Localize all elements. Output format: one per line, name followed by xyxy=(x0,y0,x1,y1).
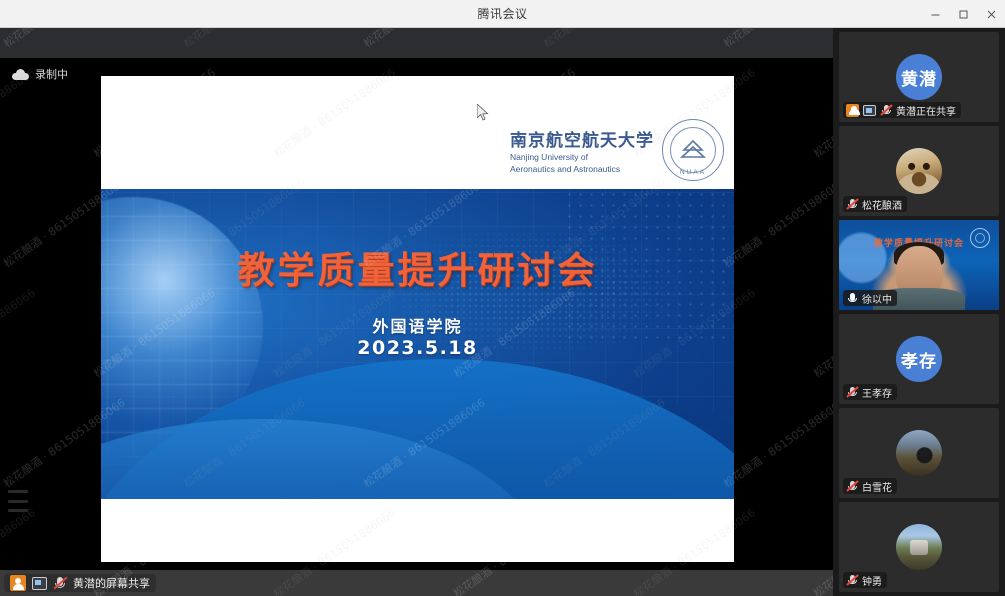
participant-rail[interactable]: 黄潜黄潜正在共享松花酿酒教学质量提升研讨会徐以中孝存王孝存白雪花钟勇 xyxy=(833,28,1005,596)
participant-name-chip: 松花酿酒 xyxy=(843,196,907,212)
watermark-text: 松花酿酒 · 8615051886066 xyxy=(720,175,833,272)
mic-muted-icon xyxy=(880,104,892,117)
seal-bottom-text: NUAA xyxy=(663,169,723,176)
tencent-meeting-window: 腾讯会议 录制中 南京航空 xyxy=(0,0,1005,596)
close-button[interactable] xyxy=(977,0,1005,28)
participant-name: 松花酿酒 xyxy=(862,197,902,212)
shared-screen-stage[interactable]: 录制中 南京航空航天大学 Nanjing University of Aeron… xyxy=(0,28,833,596)
participant-tile[interactable]: 白雪花 xyxy=(839,408,999,498)
slide-footer xyxy=(101,499,734,562)
mic-muted-icon xyxy=(846,198,858,211)
watermark-text: 松花酿酒 · 8615051886066 xyxy=(0,285,38,382)
participant-name: 黄潜正在共享 xyxy=(896,103,956,118)
mouse-cursor-icon xyxy=(477,104,489,122)
screen-share-label: 黄潜的屏幕共享 xyxy=(73,575,150,591)
university-branding: 南京航空航天大学 Nanjing University of Aeronauti… xyxy=(510,119,724,181)
shared-slide: 南京航空航天大学 Nanjing University of Aeronauti… xyxy=(101,76,734,562)
mic-on-icon xyxy=(846,292,858,305)
participant-tile[interactable]: 教学质量提升研讨会徐以中 xyxy=(839,220,999,310)
minimize-button[interactable] xyxy=(921,0,949,28)
maximize-icon xyxy=(958,9,969,20)
participant-tile[interactable]: 松花酿酒 xyxy=(839,126,999,216)
participant-name-chip: 王孝存 xyxy=(843,384,897,400)
university-name-en-line2: Aeronautics and Astronautics xyxy=(510,164,654,175)
slide-date: 2023.5.18 xyxy=(101,337,734,359)
screen-share-chip: 黄潜的屏幕共享 xyxy=(4,574,156,592)
avatar: 黄潜 xyxy=(896,54,942,100)
avatar-photo-image xyxy=(896,524,942,570)
stage-top-bar xyxy=(0,28,833,58)
mic-muted-icon xyxy=(846,386,858,399)
list-menu-icon[interactable] xyxy=(8,490,28,512)
university-name-en-line1: Nanjing University of xyxy=(510,152,654,163)
minimize-icon xyxy=(930,9,941,20)
participant-name: 白雪花 xyxy=(862,479,892,494)
avatar xyxy=(896,430,942,476)
watermark-text: 松花酿酒 · 8615051886066 xyxy=(720,395,833,492)
avatar xyxy=(896,524,942,570)
cloud-recording-icon xyxy=(12,69,29,80)
recording-label: 录制中 xyxy=(35,66,68,82)
participant-tile[interactable]: 孝存王孝存 xyxy=(839,314,999,404)
slide-header: 南京航空航天大学 Nanjing University of Aeronauti… xyxy=(101,76,734,189)
participant-name: 王孝存 xyxy=(862,385,892,400)
avatar xyxy=(896,148,942,194)
host-icon xyxy=(846,104,859,117)
window-controls xyxy=(921,0,1005,28)
participant-name-chip: 徐以中 xyxy=(843,290,897,306)
screen-share-icon xyxy=(863,105,876,116)
participant-tile[interactable]: 钟勇 xyxy=(839,502,999,592)
university-name-cn: 南京航空航天大学 xyxy=(510,126,654,151)
participant-name: 钟勇 xyxy=(862,573,882,588)
slide-body: 教学质量提升研讨会 外国语学院 2023.5.18 xyxy=(101,189,734,499)
nuaa-seal-icon: NUAA xyxy=(662,119,724,181)
video-seal-icon xyxy=(970,228,990,248)
close-icon xyxy=(986,9,997,20)
slide-main-title: 教学质量提升研讨会 xyxy=(101,240,734,294)
mic-muted-icon xyxy=(846,480,858,493)
screen-share-icon xyxy=(32,577,47,590)
watermark-text: 松花酿酒 · 8615051886066 xyxy=(810,285,833,382)
watermark-text: 松花酿酒 · 8615051886066 xyxy=(810,65,833,162)
title-bar: 腾讯会议 xyxy=(0,0,1005,28)
app-title: 腾讯会议 xyxy=(477,5,527,22)
participant-name-chip: 白雪花 xyxy=(843,478,897,494)
slide-subtitle: 外国语学院 xyxy=(101,313,734,337)
participant-tile[interactable]: 黄潜黄潜正在共享 xyxy=(839,32,999,122)
avatar-photo-image xyxy=(896,430,942,476)
recording-indicator: 录制中 xyxy=(12,66,68,82)
host-icon xyxy=(10,575,26,591)
participant-name-chip: 钟勇 xyxy=(843,572,887,588)
mic-muted-icon xyxy=(53,576,67,591)
participant-name-chip: 黄潜正在共享 xyxy=(843,102,961,118)
participant-name: 徐以中 xyxy=(862,291,892,306)
avatar-photo-image xyxy=(896,148,942,194)
mic-muted-icon xyxy=(846,574,858,587)
seal-inner-glyph xyxy=(678,138,708,164)
avatar: 孝存 xyxy=(896,336,942,382)
maximize-button[interactable] xyxy=(949,0,977,28)
screen-share-bar: 黄潜的屏幕共享 xyxy=(0,570,833,596)
university-text: 南京航空航天大学 Nanjing University of Aeronauti… xyxy=(510,126,654,175)
